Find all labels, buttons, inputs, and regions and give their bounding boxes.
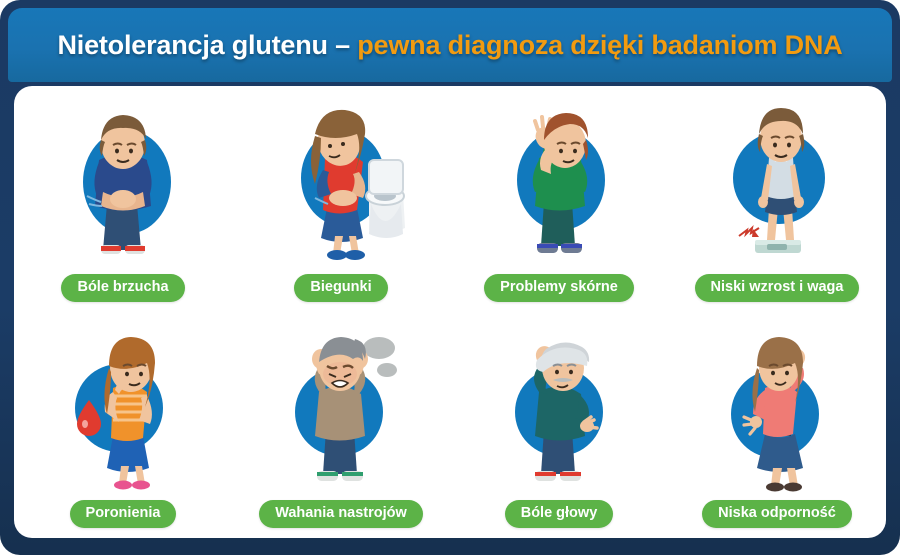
man-stomach-ache-icon (39, 100, 207, 270)
symptom-label: Problemy skórne (484, 274, 634, 302)
symptom-card[interactable]: Niski wzrost i waga (668, 86, 886, 312)
infographic-frame: Nietolerancja glutenu – pewna diagnoza d… (0, 0, 900, 555)
symptom-grid: Bóle brzucha (14, 86, 886, 538)
symptom-card[interactable]: Biegunki (232, 86, 450, 312)
header-banner: Nietolerancja glutenu – pewna diagnoza d… (8, 8, 892, 82)
symptom-label: Bóle brzucha (61, 274, 184, 302)
symptom-card[interactable]: Bóle głowy (450, 312, 668, 538)
man-scratching-skin-icon (475, 100, 643, 270)
symptom-card[interactable]: Wahania nastrojów (232, 312, 450, 538)
symptom-card[interactable]: Problemy skórne (450, 86, 668, 312)
symptom-card[interactable]: Poronienia (14, 312, 232, 538)
thin-boy-scale-icon (693, 100, 861, 270)
elderly-man-headache-icon (475, 326, 643, 496)
woman-toilet-icon (257, 100, 425, 270)
symptom-card[interactable]: Niska odporność (668, 312, 886, 538)
symptom-label: Niska odporność (702, 500, 852, 528)
symptom-card[interactable]: Bóle brzucha (14, 86, 232, 312)
symptom-label: Poronienia (70, 500, 177, 528)
symptom-label: Niski wzrost i waga (695, 274, 860, 302)
symptom-label: Bóle głowy (505, 500, 614, 528)
title-accent-part: pewna diagnoza dzięki badaniom DNA (357, 30, 842, 60)
content-panel: Bóle brzucha (14, 86, 886, 538)
man-mood-swings-icon (257, 326, 425, 496)
woman-blood-drop-icon (39, 326, 207, 496)
page-title: Nietolerancja glutenu – pewna diagnoza d… (57, 30, 842, 61)
girl-low-immunity-icon (693, 326, 861, 496)
title-plain-part: Nietolerancja glutenu – (57, 30, 357, 60)
symptom-label: Wahania nastrojów (259, 500, 423, 528)
symptom-label: Biegunki (294, 274, 387, 302)
